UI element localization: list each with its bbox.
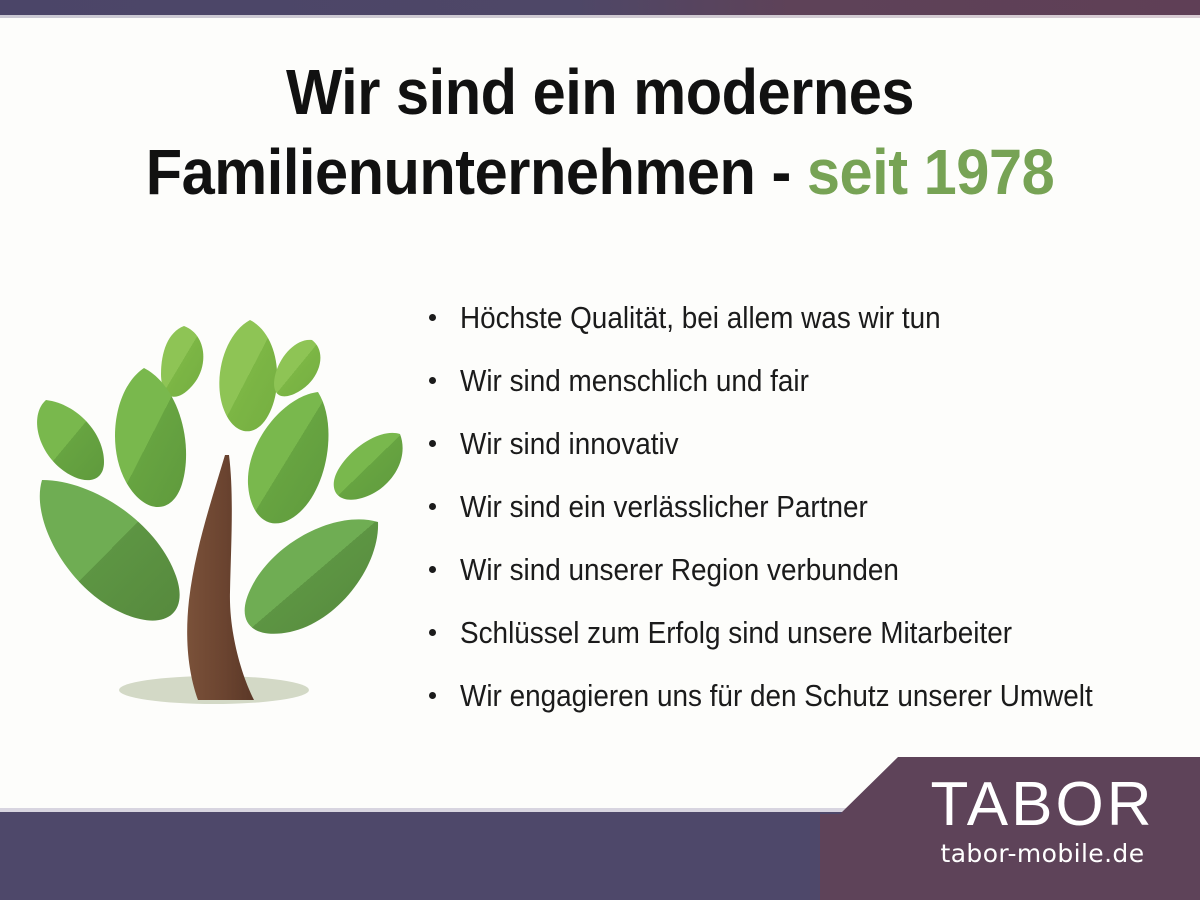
brand-url: tabor-mobile.de (895, 839, 1190, 869)
value-list: Höchste Qualität, bei allem was wir tun … (425, 286, 1195, 727)
tree-trunk (187, 455, 254, 700)
list-item-label: Wir sind menschlich und fair (460, 349, 809, 412)
bullet-dot-icon (429, 566, 436, 573)
bullet-dot-icon (429, 440, 436, 447)
tree-leaf-top-small-right (274, 340, 320, 397)
brand-wordmark: TABOR (895, 773, 1190, 837)
list-item: Wir sind unserer Region verbunden (425, 538, 1195, 601)
top-accent-bar-shadow (0, 15, 1200, 18)
list-item-label: Wir sind innovativ (460, 412, 679, 475)
tree-leaf-lower-right (245, 519, 378, 633)
tree-leaf-top-center (219, 320, 277, 431)
bottom-bar (0, 812, 860, 900)
top-accent-bar (0, 0, 1200, 15)
list-item-label: Wir engagieren uns für den Schutz unsere… (460, 664, 1093, 727)
page-title-line-2: Familienunternehmen - seit 1978 (42, 132, 1158, 212)
list-item-label: Höchste Qualität, bei allem was wir tun (460, 286, 941, 349)
page-title-accent: seit 1978 (807, 136, 1054, 208)
list-item-label: Schlüssel zum Erfolg sind unsere Mitarbe… (460, 601, 1012, 664)
brand-lockup[interactable]: TABOR tabor-mobile.de (895, 773, 1190, 869)
tree-logo (22, 300, 422, 720)
slide-root: Wir sind ein modernes Familienunternehme… (0, 0, 1200, 900)
list-item: Schlüssel zum Erfolg sind unsere Mitarbe… (425, 601, 1195, 664)
list-item: Wir engagieren uns für den Schutz unsere… (425, 664, 1195, 727)
list-item: Wir sind ein verlässlicher Partner (425, 475, 1195, 538)
page-title-line-2-plain: Familienunternehmen - (146, 136, 807, 208)
bullet-dot-icon (429, 629, 436, 636)
list-item: Wir sind innovativ (425, 412, 1195, 475)
tree-leaf-right-small (334, 433, 403, 500)
tree-leaf-top-small-left (161, 326, 203, 397)
list-item: Wir sind menschlich und fair (425, 349, 1195, 412)
bullet-dot-icon (429, 503, 436, 510)
page-title: Wir sind ein modernes Familienunternehme… (42, 52, 1158, 212)
page-title-line-1: Wir sind ein modernes (286, 56, 914, 128)
list-item-label: Wir sind unserer Region verbunden (460, 538, 899, 601)
list-item: Höchste Qualität, bei allem was wir tun (425, 286, 1195, 349)
bullet-dot-icon (429, 377, 436, 384)
bullet-dot-icon (429, 314, 436, 321)
tree-leaf-left-small (37, 400, 104, 480)
list-item-label: Wir sind ein verlässlicher Partner (460, 475, 868, 538)
bullet-dot-icon (429, 692, 436, 699)
